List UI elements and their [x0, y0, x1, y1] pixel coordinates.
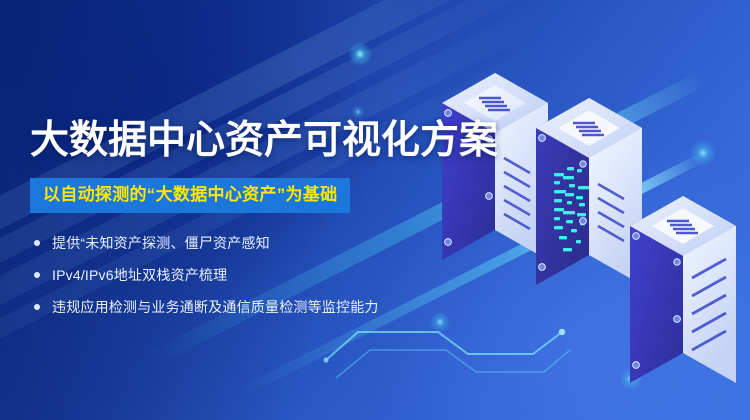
dot-icon	[34, 304, 40, 310]
list-item: 违规应用检测与业务通断及通信质量检测等监控能力	[30, 298, 450, 316]
dot-icon	[34, 272, 40, 278]
list-item-label: 提供“未知资产探测、僵尸资产感知	[52, 235, 270, 251]
glow-dot	[352, 106, 364, 118]
list-item-label: IPv4/IPv6地址双栈资产梳理	[52, 267, 227, 283]
banner-text-column: 大数据中心资产可视化方案 以自动探测的“大数据中心资产”为基础 提供“未知资产探…	[30, 118, 450, 316]
server-rack-right	[430, 40, 750, 410]
marketing-banner: 大数据中心资产可视化方案 以自动探测的“大数据中心资产”为基础 提供“未知资产探…	[0, 0, 750, 420]
list-item: IPv4/IPv6地址双栈资产梳理	[30, 266, 450, 284]
list-item: 提供“未知资产探测、僵尸资产感知	[30, 234, 450, 252]
list-item-label: 违规应用检测与业务通断及通信质量检测等监控能力	[52, 299, 379, 315]
subtitle-badge: 以自动探测的“大数据中心资产”为基础	[30, 178, 350, 213]
dot-icon	[34, 240, 40, 246]
glow-dot	[348, 42, 372, 66]
page-title: 大数据中心资产可视化方案	[30, 118, 450, 164]
isometric-server-illustration	[430, 40, 750, 410]
feature-list: 提供“未知资产探测、僵尸资产感知 IPv4/IPv6地址双栈资产梳理 违规应用检…	[30, 234, 450, 316]
